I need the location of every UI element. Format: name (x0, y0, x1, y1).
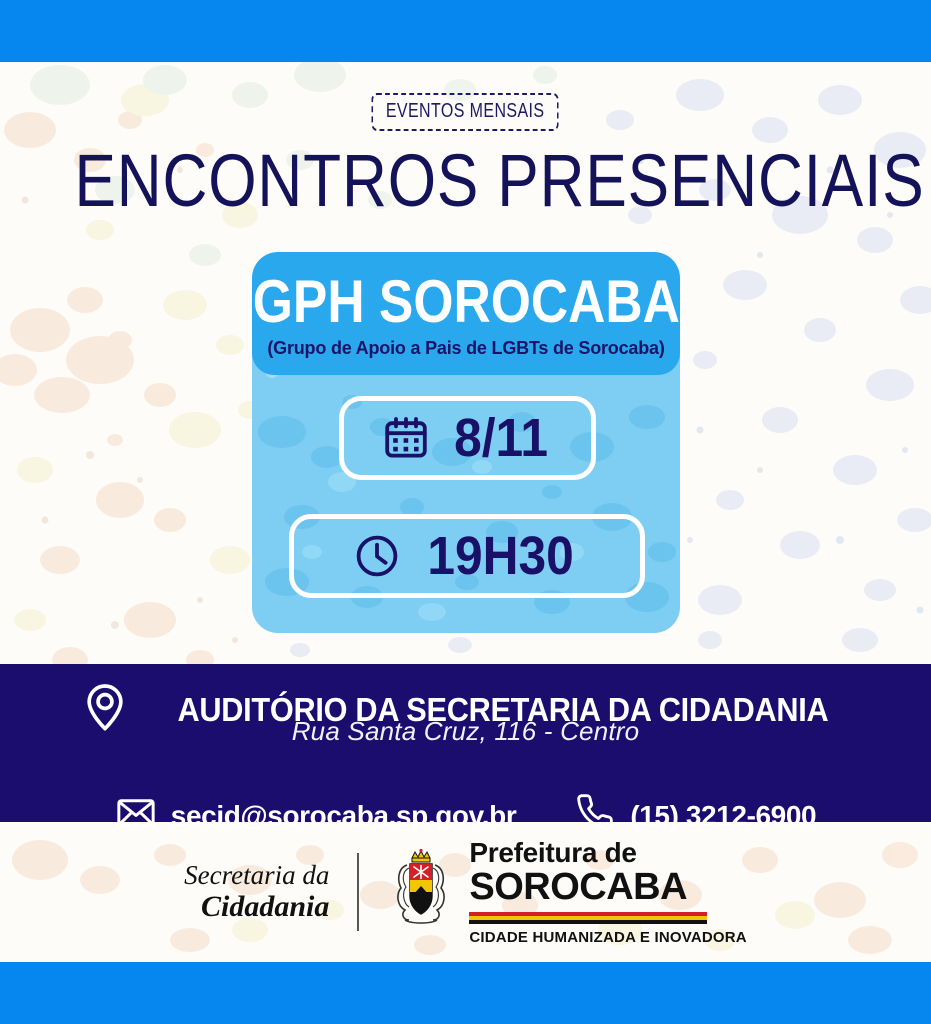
secretaria-line-1: Secretaria da (184, 860, 329, 890)
logo-divider (357, 853, 359, 931)
eyebrow-badge: EVENTOS MENSAIS (372, 93, 559, 131)
calendar-icon (382, 414, 430, 462)
event-card: GPH SOROCABA (Grupo de Apoio a Pais de L… (252, 252, 680, 633)
time-pill: 19H30 (289, 514, 645, 598)
event-time: 19H30 (428, 529, 574, 583)
group-name: GPH SOROCABA (252, 272, 679, 332)
group-full-name: (Grupo de Apoio a Pais de LGBTs de Soroc… (267, 338, 664, 359)
event-date: 8/11 (455, 411, 549, 465)
prefeitura-line-2: SOROCABA (469, 868, 746, 906)
prefeitura-text: Prefeitura de SOROCABA CIDADE HUMANIZADA… (469, 839, 746, 945)
event-poster: EVENTOS MENSAIS ENCONTROS PRESENCIAIS (0, 0, 931, 1024)
page-title: ENCONTROS PRESENCIAIS (74, 143, 856, 219)
bottom-brand-bar (0, 962, 931, 1024)
eyebrow-badge-wrap: EVENTOS MENSAIS (0, 93, 931, 131)
card-header: GPH SOROCABA (Grupo de Apoio a Pais de L… (252, 252, 680, 375)
prefeitura-stripes (469, 912, 707, 924)
prefeitura-logo: Prefeitura de SOROCABA CIDADE HUMANIZADA… (359, 839, 746, 945)
top-brand-bar (0, 0, 931, 62)
secretaria-logo: Secretaria da Cidadania (184, 860, 357, 924)
prefeitura-line-1: Prefeitura de (469, 839, 746, 867)
secretaria-line-2: Cidadania (184, 890, 329, 924)
date-pill: 8/11 (339, 396, 596, 480)
footer-logos: Secretaria da Cidadania (0, 822, 931, 962)
clock-icon (353, 532, 401, 580)
sorocaba-coat-of-arms-icon (385, 848, 457, 937)
venue-address: Rua Santa Cruz, 116 - Centro (0, 716, 931, 747)
prefeitura-tagline: CIDADE HUMANIZADA E INOVADORA (469, 930, 746, 945)
